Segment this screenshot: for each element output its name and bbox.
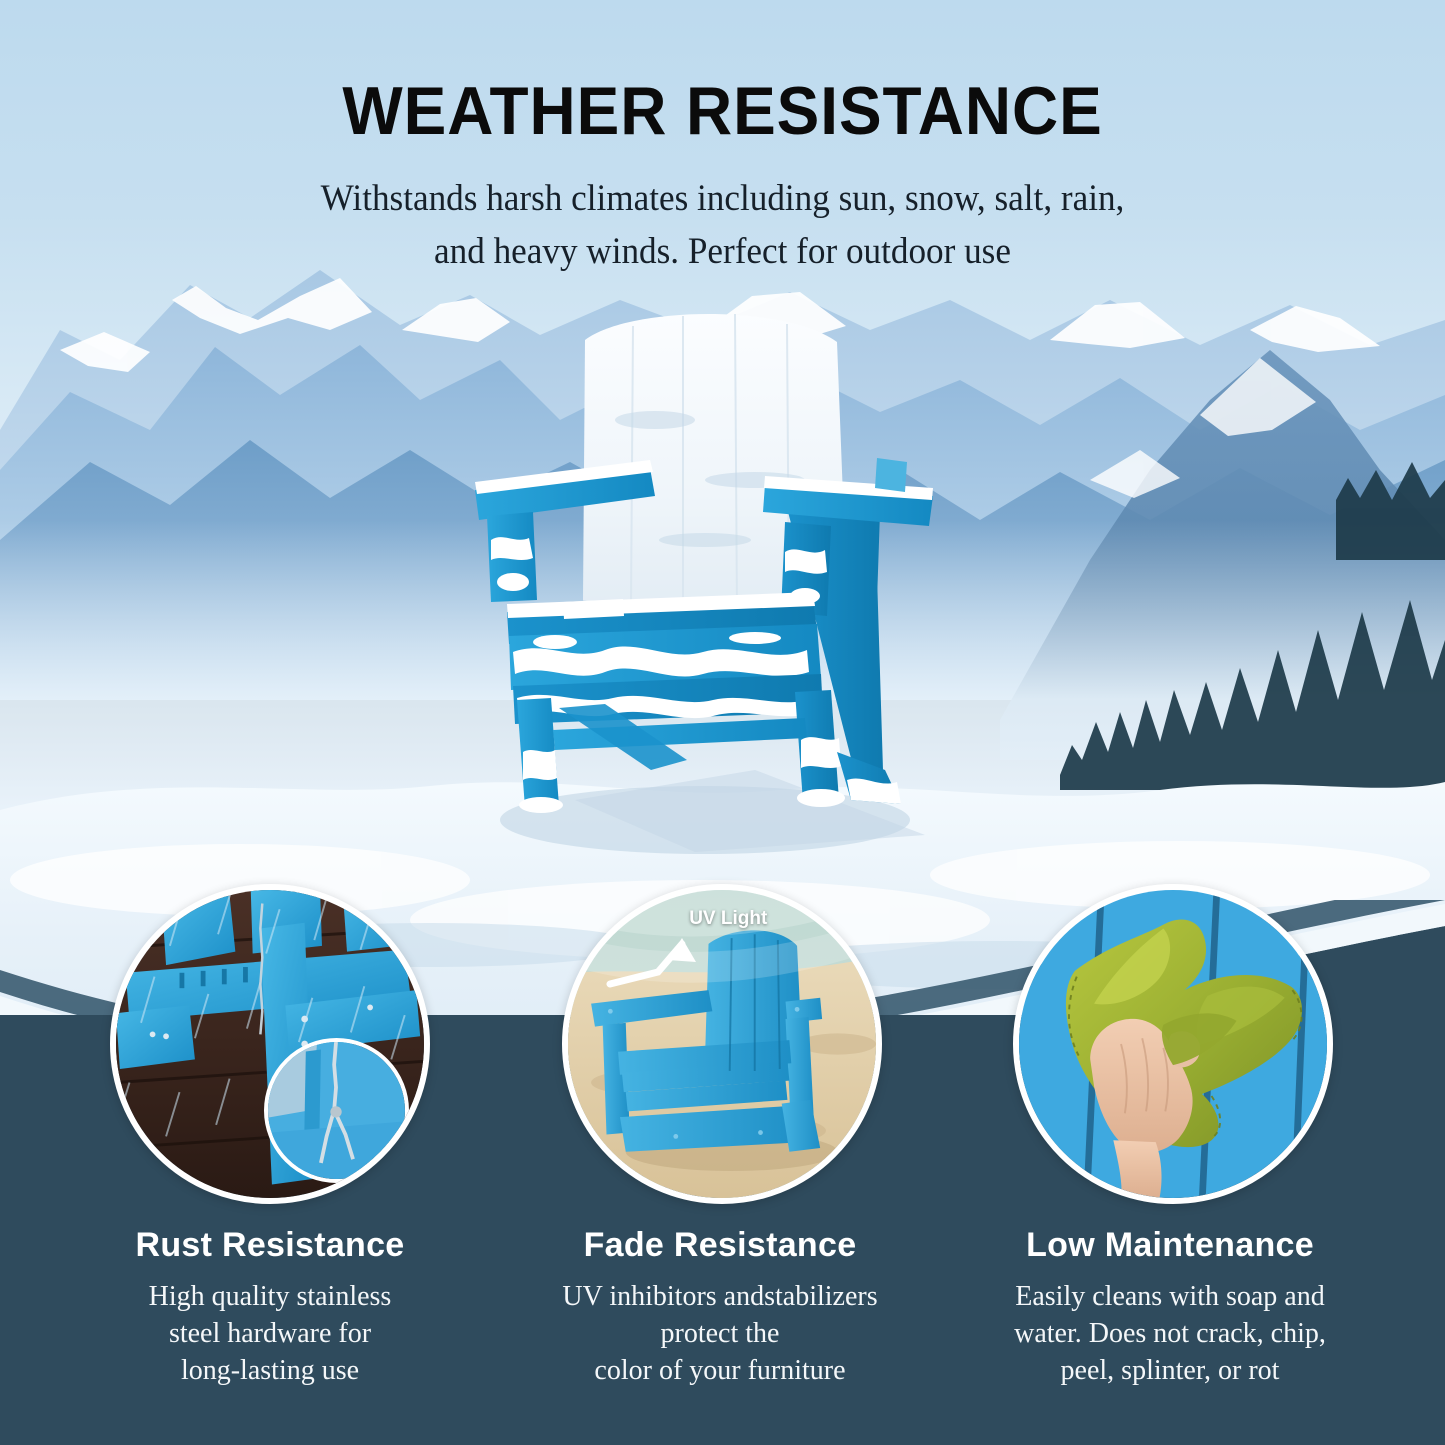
subtitle-line-1: Withstands harsh climates including sun,… — [36, 172, 1409, 225]
feature-body-line: water. Does not crack, chip, — [945, 1316, 1395, 1353]
feature-text-low-maintenance: Low Maintenance Easily cleans with soap … — [945, 1226, 1395, 1390]
chain-detail-inset — [264, 1038, 409, 1183]
feature-body-line: steel hardware for — [45, 1316, 495, 1353]
page-title: WEATHER RESISTANCE — [43, 72, 1401, 150]
feature-image-fade-resistance[interactable]: UV Light — [562, 884, 882, 1204]
feature-body-line: UV inhibitors andstabilizers — [495, 1279, 945, 1316]
feature-title-fade-resistance: Fade Resistance — [495, 1226, 945, 1265]
feature-title-rust-resistance: Rust Resistance — [45, 1226, 495, 1265]
feature-body-fade-resistance: UV inhibitors andstabilizers protect the… — [495, 1279, 945, 1390]
feature-body-low-maintenance: Easily cleans with soap and water. Does … — [945, 1279, 1395, 1390]
page-subtitle: Withstands harsh climates including sun,… — [36, 172, 1409, 279]
subtitle-line-2: and heavy winds. Perfect for outdoor use — [36, 225, 1409, 278]
stainless-chain-closeup — [268, 1042, 405, 1179]
feature-text-fade-resistance: Fade Resistance UV inhibitors andstabili… — [495, 1226, 945, 1390]
feature-body-line: High quality stainless — [45, 1279, 495, 1316]
feature-image-low-maintenance[interactable] — [1013, 884, 1333, 1204]
infographic-root: WEATHER RESISTANCE Withstands harsh clim… — [0, 0, 1445, 1445]
snow-covered-adirondack-chair — [455, 300, 955, 870]
feature-body-line: peel, splinter, or rot — [945, 1353, 1395, 1390]
feature-body-rust-resistance: High quality stainless steel hardware fo… — [45, 1279, 495, 1390]
uv-light-label: UV Light — [689, 908, 767, 930]
feature-body-line: Easily cleans with soap and — [945, 1279, 1395, 1316]
feature-body-line: protect the — [495, 1316, 945, 1353]
feature-body-line: color of your furniture — [495, 1353, 945, 1390]
uv-light-arrow-icon — [604, 932, 724, 1002]
feature-title-low-maintenance: Low Maintenance — [945, 1226, 1395, 1265]
feature-text-rust-resistance: Rust Resistance High quality stainless s… — [45, 1226, 495, 1390]
feature-body-line: long-lasting use — [45, 1353, 495, 1390]
wiping-with-cloth-photo — [1019, 890, 1327, 1198]
feature-image-rust-resistance[interactable] — [110, 884, 430, 1204]
